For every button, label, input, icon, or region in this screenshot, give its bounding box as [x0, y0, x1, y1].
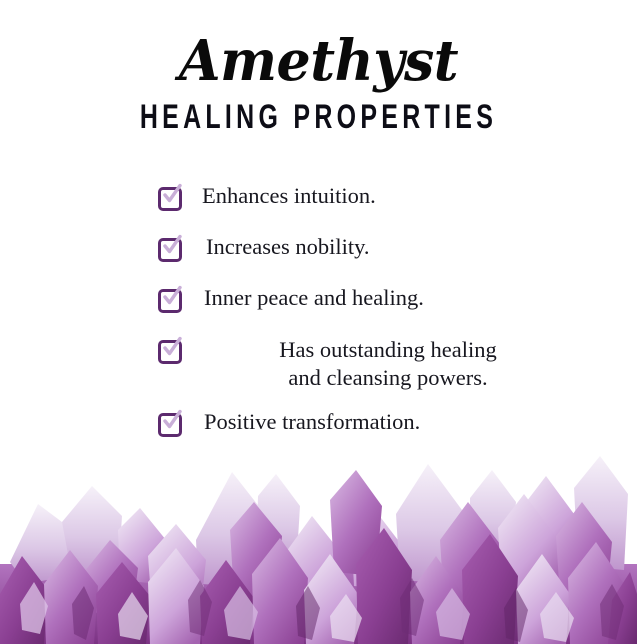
checkmark-icon [161, 285, 183, 309]
page-subtitle: HEALING PROPERTIES [70, 98, 567, 135]
amethyst-healing-properties-poster: Amethyst HEALING PROPERTIES Enhances int… [0, 0, 637, 644]
amethyst-crystal-cluster-image [0, 444, 637, 644]
checked-checkbox-icon[interactable] [158, 288, 180, 310]
crystal-cluster-illustration [0, 444, 637, 644]
list-item-label: Enhances intuition. [180, 183, 578, 209]
list-item-label: Increases nobility. [180, 234, 578, 260]
list-item[interactable]: Inner peace and healing. [158, 285, 578, 311]
list-item[interactable]: Enhances intuition. [158, 183, 578, 209]
list-item-label: Has outstanding healing and cleansing po… [180, 336, 578, 392]
healing-properties-list: Enhances intuition. Increases nobility. … [158, 183, 578, 460]
poster-header: Amethyst HEALING PROPERTIES [0, 30, 637, 132]
list-item[interactable]: Positive transformation. [158, 409, 578, 435]
checked-checkbox-icon[interactable] [158, 186, 180, 208]
checkmark-icon [161, 234, 183, 258]
checkmark-icon [161, 183, 183, 207]
checked-checkbox-icon[interactable] [158, 237, 180, 259]
checkmark-icon [161, 336, 183, 360]
page-title: Amethyst [13, 30, 625, 92]
list-item-label: Inner peace and healing. [180, 285, 578, 311]
list-item-label: Positive transformation. [180, 409, 578, 435]
list-item[interactable]: Increases nobility. [158, 234, 578, 260]
checked-checkbox-icon[interactable] [158, 339, 180, 361]
checkmark-icon [161, 409, 183, 433]
checked-checkbox-icon[interactable] [158, 412, 180, 434]
list-item[interactable]: Has outstanding healing and cleansing po… [158, 336, 578, 392]
